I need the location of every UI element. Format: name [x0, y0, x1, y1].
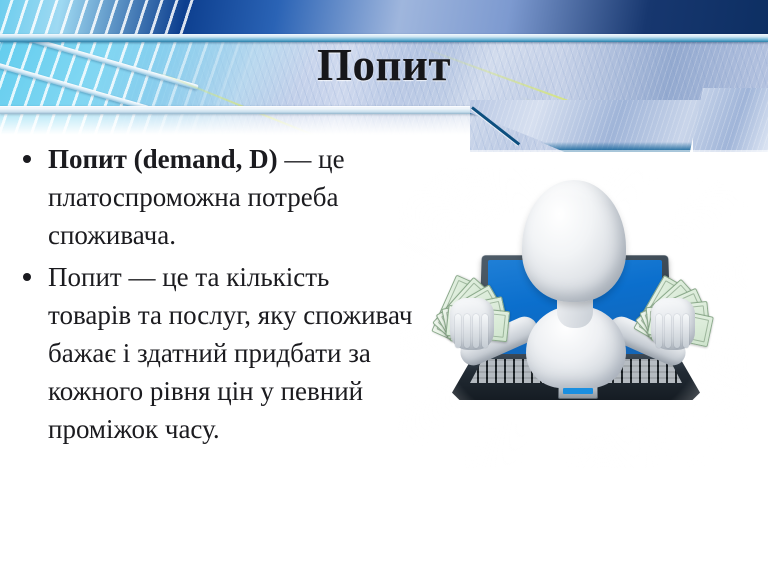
bullet-1-term: Попит (demand, D) [48, 144, 278, 174]
finger [656, 314, 662, 348]
finger [473, 314, 479, 348]
header-bottom-fade-right [470, 150, 768, 152]
slide-title: Попит [0, 40, 768, 90]
figure-left-hand [450, 298, 494, 350]
header-right-chevron [690, 88, 768, 152]
presentation-slide: Попит Попит (demand, D) — це платоспромо… [0, 0, 768, 575]
finger [674, 314, 680, 348]
finger [665, 314, 671, 348]
header-top-strip [0, 0, 768, 34]
bullet-2-text: Попит — це та кількість товарів та послу… [48, 262, 412, 444]
finger [455, 314, 461, 348]
finger [464, 314, 470, 348]
figure-head [522, 180, 626, 302]
illustration-figure-with-money [418, 178, 728, 453]
bullet-item-1: Попит (demand, D) — це платоспроможна по… [14, 140, 416, 254]
finger [683, 314, 689, 348]
finger [482, 314, 488, 348]
figure-right-hand [651, 298, 695, 350]
header-top-strip-railing [0, 0, 196, 34]
bullet-item-2: Попит — це та кількість товарів та послу… [14, 258, 416, 448]
slide-body-content: Попит (demand, D) — це платоспроможна по… [14, 140, 416, 452]
